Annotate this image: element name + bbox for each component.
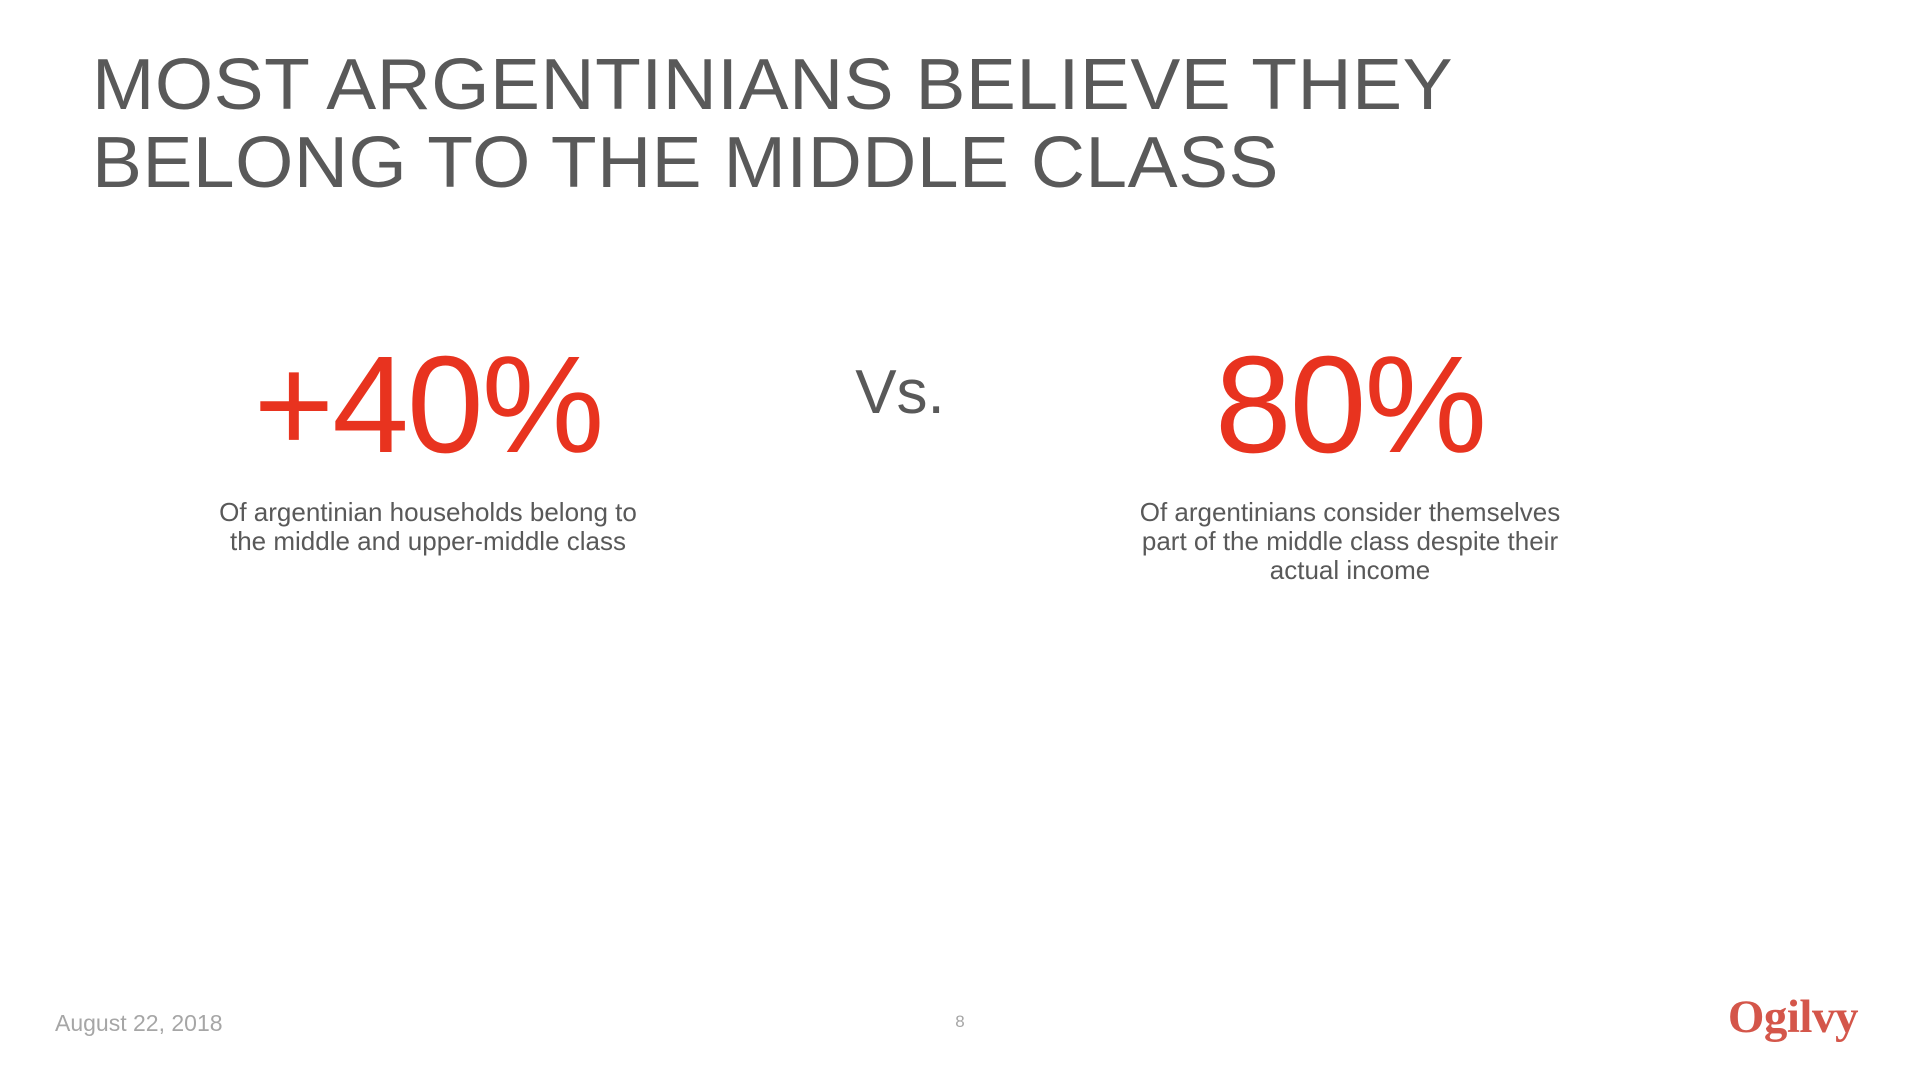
stat-caption-right: Of argentinians consider themselves part… (1070, 498, 1630, 585)
slide-footer: August 22, 2018 8 Ogilvy (0, 960, 1920, 1080)
stat-block-left: +40% Of argentinian households belong to… (148, 330, 708, 556)
page-title: MOST ARGENTINIANS BELIEVE THEY BELONG TO… (92, 46, 1712, 202)
page-number: 8 (0, 1012, 1920, 1032)
stat-block-right: 80% Of argentinians consider themselves … (1070, 330, 1630, 585)
stat-caption-left: Of argentinian households belong to the … (148, 498, 708, 556)
stat-value-left: +40% (148, 330, 708, 480)
page-title-line-1: MOST ARGENTINIANS BELIEVE THEY (92, 46, 1777, 124)
comparison-separator: Vs. (800, 358, 1000, 428)
comparison-stats: +40% Of argentinian households belong to… (0, 330, 1920, 660)
slide: MOST ARGENTINIANS BELIEVE THEY BELONG TO… (0, 0, 1920, 1080)
page-title-line-2: BELONG TO THE MIDDLE CLASS (92, 124, 1777, 202)
stat-value-right: 80% (1070, 330, 1630, 480)
ogilvy-logo: Ogilvy (1728, 992, 1858, 1042)
